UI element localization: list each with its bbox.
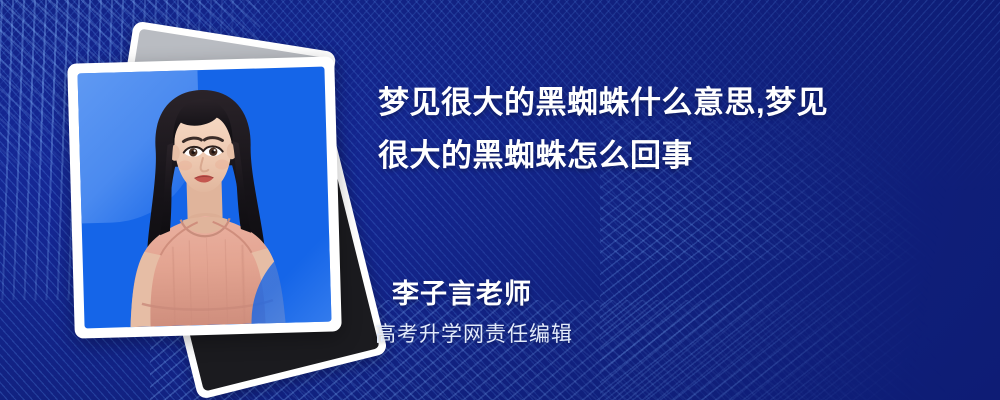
author-name: 李子言老师 [392,272,532,311]
author-role: 高考升学网责任编辑 [375,318,573,348]
id-photo [77,67,331,329]
portrait-illustration [77,67,331,329]
page-title: 梦见很大的黑蜘蛛什么意思,梦见 很大的黑蜘蛛怎么回事 [378,76,948,182]
article-header-banner: 梦见很大的黑蜘蛛什么意思,梦见 很大的黑蜘蛛怎么回事 李子言老师 高考升学网责任… [0,0,1000,400]
photo-card-front [67,56,342,338]
photo-card-stack [55,35,355,355]
text-block: 梦见很大的黑蜘蛛什么意思,梦见 很大的黑蜘蛛怎么回事 李子言老师 高考升学网责任… [372,0,972,400]
